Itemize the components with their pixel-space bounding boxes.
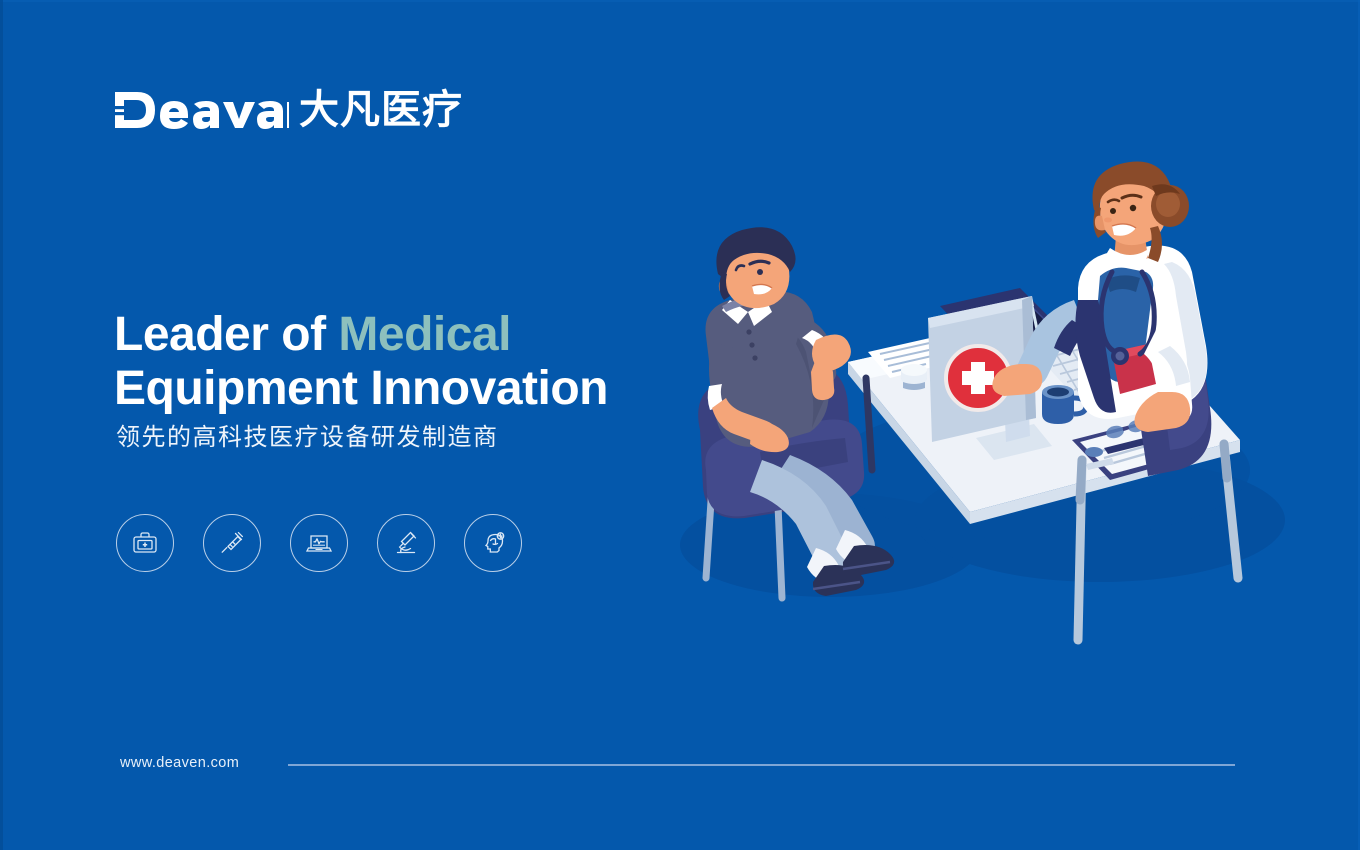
laptop-ecg-icon[interactable]: [290, 514, 348, 572]
brand-logo[interactable]: 大凡医疗: [113, 88, 463, 132]
headline-accent: Medical: [338, 308, 511, 361]
footer-divider: [288, 764, 1235, 766]
brain-head-icon[interactable]: [464, 514, 522, 572]
logo-chinese-text: 大凡医疗: [299, 90, 463, 130]
footer-website-url[interactable]: www.deaven.com: [120, 755, 239, 771]
page-title: Leader of Medical Equipment Innovation: [114, 308, 608, 416]
deavan-wordmark-icon: [113, 88, 289, 132]
headline-line-2: Equipment Innovation: [114, 362, 608, 415]
headline-line-1: Leader of Medical: [114, 308, 511, 361]
headline-plain: Leader of: [114, 308, 338, 361]
page-subtitle: 领先的高科技医疗设备研发制造商: [116, 417, 499, 452]
slide-canvas: 大凡医疗 Leader of Medical Equipment Innovat…: [0, 0, 1360, 850]
medical-kit-icon[interactable]: [116, 514, 174, 572]
microscope-icon[interactable]: [377, 514, 435, 572]
feature-icon-row: [116, 514, 522, 572]
syringe-icon[interactable]: [203, 514, 261, 572]
